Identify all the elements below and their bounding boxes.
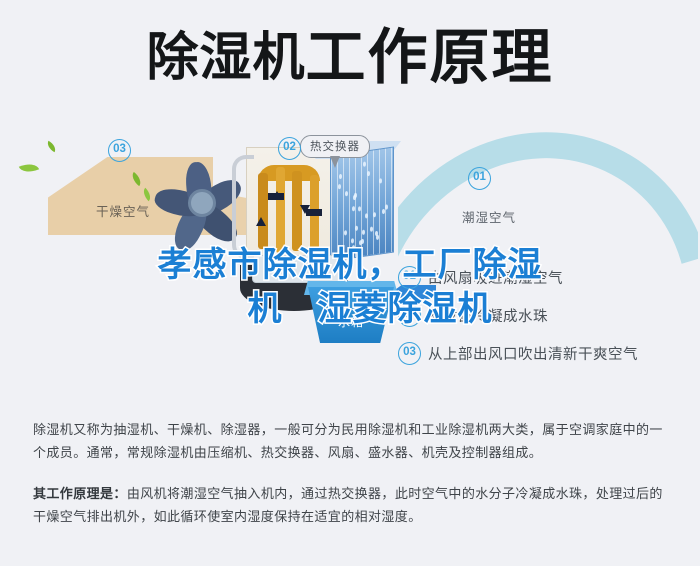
water-tank-label: 水箱 <box>338 313 364 330</box>
diagram-badge-03: 03 <box>108 139 131 162</box>
condensation-droplet-icon <box>362 229 365 234</box>
step-text: 由风扇吸进潮湿空气 <box>428 267 563 288</box>
list-item: 03 从上部出风口吹出清新干爽空气 <box>398 334 688 372</box>
step-badge: 02 <box>398 304 421 327</box>
list-item: 01 由风扇吸进潮湿空气 <box>398 258 688 296</box>
leaf-icon <box>45 141 58 153</box>
humid-air-label: 潮湿空气 <box>462 207 516 226</box>
heat-exchanger-callout: 热交换器 <box>300 135 370 158</box>
page-title-part2: 工作原理 <box>306 24 554 91</box>
fan-hub-icon <box>188 189 216 217</box>
step-text: 从上部出风口吹出清新干爽空气 <box>428 343 638 364</box>
condensation-droplet-icon <box>355 225 358 230</box>
callout-tail-icon <box>330 156 340 168</box>
page-root: 除湿机工作原理 干燥空气 <box>0 0 700 566</box>
step-badge: 01 <box>398 266 421 289</box>
coil-icon <box>276 167 285 253</box>
refrigerant-pipe-icon <box>232 155 254 259</box>
principle-body: 由风机将潮湿空气抽入机内，通过热交换器，此时空气中的水分子冷凝成水珠，处理过后的… <box>33 486 663 524</box>
condensation-droplet-icon <box>351 238 354 243</box>
condensation-droplet-icon <box>363 161 366 166</box>
condensation-droplet-icon <box>373 212 376 217</box>
description-paragraph-2: 其工作原理是：由风机将潮湿空气抽入机内，通过热交换器，此时空气中的水分子冷凝成水… <box>33 482 671 528</box>
dry-air-label: 干燥空气 <box>96 201 150 220</box>
flow-arrow-down-icon <box>300 205 310 214</box>
flow-arrow-up-icon <box>256 217 266 226</box>
principle-label: 其工作原理是： <box>33 486 127 501</box>
list-item: 02 蒸发器冷凝成水珠 <box>398 296 688 334</box>
leaf-icon <box>19 160 39 176</box>
page-title: 除湿机工作原理 <box>0 22 700 94</box>
step-text: 蒸发器冷凝成水珠 <box>428 305 548 326</box>
condensation-droplet-icon <box>352 247 355 252</box>
machine-base-plate-icon <box>252 255 346 283</box>
step-badge: 03 <box>398 342 421 365</box>
diagram-badge-02: 02 <box>278 137 301 160</box>
page-title-part1: 除湿机 <box>146 29 305 87</box>
coil-icon <box>258 173 268 249</box>
description-paragraph-1: 除湿机又称为抽湿机、干燥机、除湿器，一般可分为民用除湿机和工业除湿机两大类，属于… <box>33 418 671 464</box>
diagram-badge-01: 01 <box>468 167 491 190</box>
condensation-droplet-icon <box>382 209 385 214</box>
step-list: 01 由风扇吸进潮湿空气 02 蒸发器冷凝成水珠 03 从上部出风口吹出清新干爽… <box>398 258 688 372</box>
flow-arrow-up-icon <box>272 191 282 200</box>
